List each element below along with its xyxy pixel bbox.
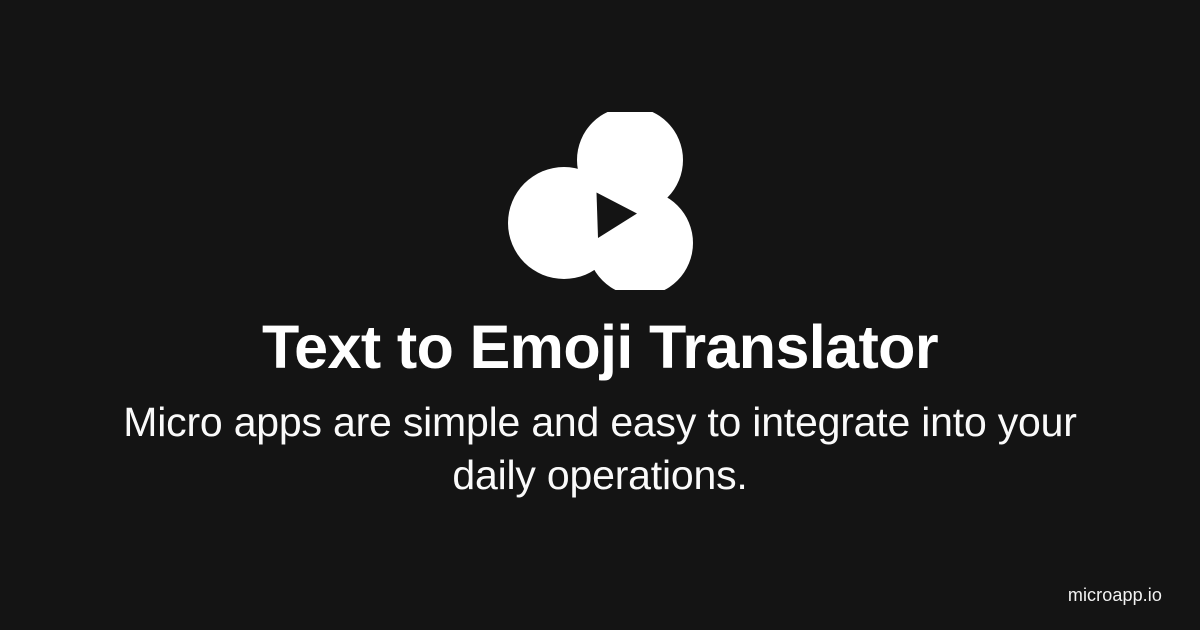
site-footer-domain: microapp.io [1068, 584, 1162, 606]
brand-logo [0, 112, 1200, 290]
microapp-logo-icon [505, 112, 695, 290]
page-subtitle: Micro apps are simple and easy to integr… [95, 396, 1105, 502]
og-share-card: Text to Emoji Translator Micro apps are … [0, 0, 1200, 630]
page-title: Text to Emoji Translator [60, 312, 1140, 382]
hero-text-block: Text to Emoji Translator Micro apps are … [0, 312, 1200, 502]
